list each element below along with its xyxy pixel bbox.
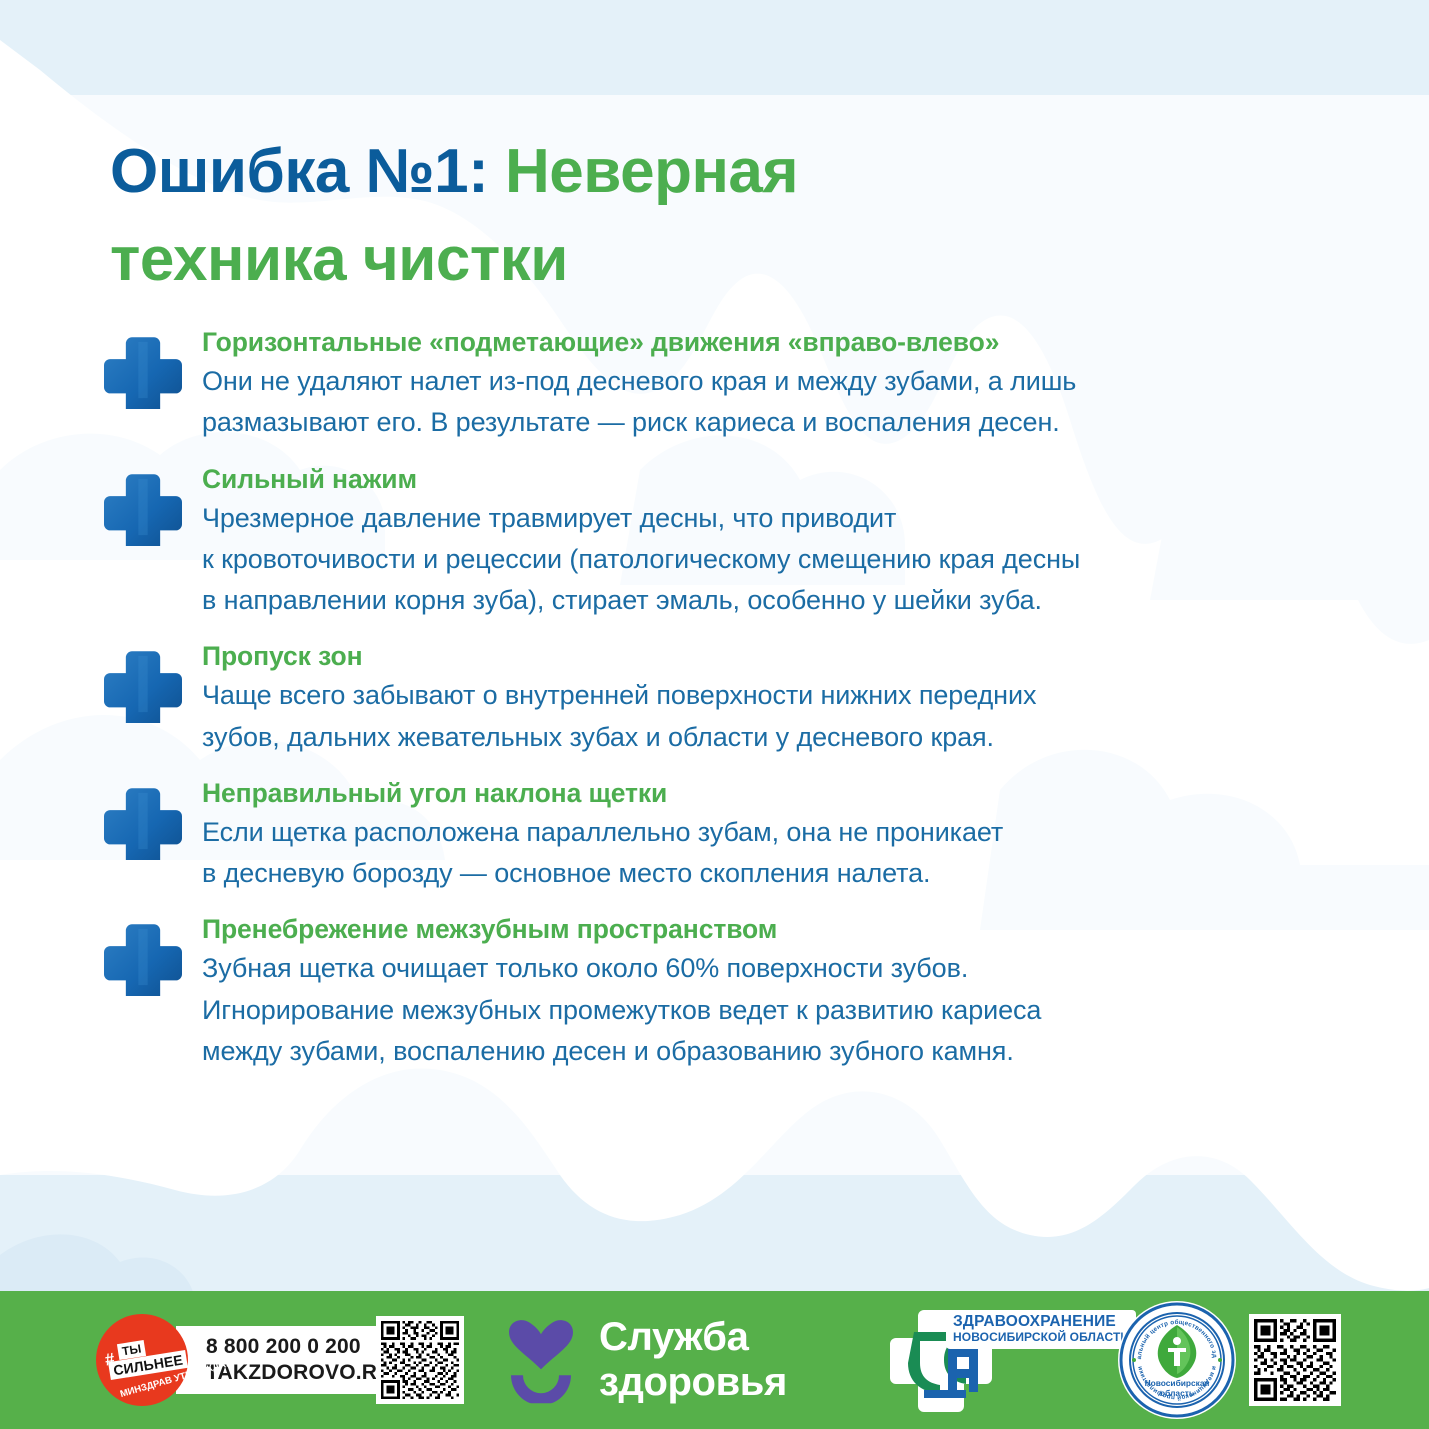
list-item-line: к кровоточивости и рецессии (патологичес… <box>202 539 1364 580</box>
heart-smile-icon <box>505 1317 577 1403</box>
list-item-line: в десневую борозду — основное место скоп… <box>202 853 1364 894</box>
list-item-body: Чрезмерное давление травмирует десны, чт… <box>202 498 1364 621</box>
list-item-line: Игнорирование межзубных промежутков веде… <box>202 990 1364 1031</box>
list-item-body: Если щетка расположена параллельно зубам… <box>202 812 1364 894</box>
ty-silnee-badge-icon: # ТЫ СИЛЬНЕЕ МИНЗДРАВ УТВЕРЖДАЕТ! <box>96 1314 188 1406</box>
list-item-line: Чаще всего забывают о внутренней поверхн… <box>202 675 1364 716</box>
list-item: Пренебрежение межзубным пространством Зу… <box>104 912 1364 1072</box>
round-seal-icon[interactable]: Региональный центр общественного здоровь… <box>1118 1301 1236 1419</box>
qr-code-icon[interactable] <box>376 1316 464 1404</box>
zdravoohranenie-line-2: НОВОСИБИРСКОЙ ОБЛАСТИ <box>953 1331 1129 1344</box>
mistake-list: Горизонтальные «подметающие» движения «в… <box>104 325 1364 1072</box>
takzdorovo-block[interactable]: # ТЫ СИЛЬНЕЕ МИНЗДРАВ УТВЕРЖДАЕТ! 8 800 … <box>96 1323 413 1397</box>
svg-text:Новосибирская: Новосибирская <box>1145 1378 1210 1388</box>
title-line-1: Ошибка №1: Неверная <box>110 128 1260 216</box>
plus-cross-icon <box>104 468 182 546</box>
list-item-line: в направлении корня зуба), стирает эмаль… <box>202 580 1364 621</box>
plus-cross-icon <box>104 645 182 723</box>
list-item: Неправильный угол наклона щетки Если щет… <box>104 776 1364 895</box>
zdravoohranenie-nso-logo[interactable]: ЗДРАВООХРАНЕНИЕ НОВОСИБИРСКОЙ ОБЛАСТИ <box>890 1304 1085 1416</box>
plus-cross-icon <box>104 918 182 996</box>
title-line-2: техника чистки <box>110 216 1260 304</box>
list-item-title: Неправильный угол наклона щетки <box>202 776 1364 810</box>
list-item-title: Горизонтальные «подметающие» движения «в… <box>202 325 1364 359</box>
sluzhba-zdorovya-text: Служба здоровья <box>599 1315 787 1405</box>
list-item-line: Они не удаляют налет из-под десневого кр… <box>202 361 1364 402</box>
list-item-body: Чаще всего забывают о внутренней поверхн… <box>202 675 1364 757</box>
list-item-body: Они не удаляют налет из-под десневого кр… <box>202 361 1364 443</box>
list-item-line: Чрезмерное давление травмирует десны, чт… <box>202 498 1364 539</box>
list-item-title: Сильный нажим <box>202 462 1364 496</box>
list-item: Горизонтальные «подметающие» движения «в… <box>104 325 1364 444</box>
list-item-line: зубов, дальних жевательных зубах и облас… <box>202 717 1364 758</box>
list-item: Сильный нажим Чрезмерное давление травми… <box>104 462 1364 622</box>
qr-code-icon[interactable] <box>1249 1314 1341 1406</box>
list-item-line: размазывают его. В результате — риск кар… <box>202 402 1364 443</box>
list-item-line: Зубная щетка очищает только около 60% по… <box>202 948 1364 989</box>
page-title: Ошибка №1: Неверная техника чистки <box>110 128 1260 304</box>
svg-text:область: область <box>1160 1388 1194 1398</box>
list-item: Пропуск зон Чаще всего забывают о внутре… <box>104 639 1364 758</box>
list-item-title: Пренебрежение межзубным пространством <box>202 912 1364 946</box>
zdravoohranenie-line-1: ЗДРАВООХРАНЕНИЕ <box>953 1314 1129 1331</box>
sluzhba-line-1: Служба <box>599 1315 787 1360</box>
sluzhba-zdorovya-logo[interactable]: Служба здоровья <box>505 1315 787 1405</box>
plus-cross-icon <box>104 331 182 409</box>
list-item-title: Пропуск зон <box>202 639 1364 673</box>
zdravoohranenie-label: ЗДРАВООХРАНЕНИЕ НОВОСИБИРСКОЙ ОБЛАСТИ <box>946 1310 1136 1349</box>
title-part-green: Неверная <box>505 137 798 206</box>
footer-bar: # ТЫ СИЛЬНЕЕ МИНЗДРАВ УТВЕРЖДАЕТ! 8 800 … <box>0 1291 1429 1429</box>
list-item-line: Если щетка расположена параллельно зубам… <box>202 812 1364 853</box>
list-item-line: между зубами, воспалению десен и образов… <box>202 1031 1364 1072</box>
plus-cross-icon <box>104 782 182 860</box>
poster-root: Ошибка №1: Неверная техника чистки Гориз… <box>0 0 1429 1429</box>
title-part-blue: Ошибка №1: <box>110 137 488 206</box>
sluzhba-line-2: здоровья <box>599 1360 787 1405</box>
list-item-body: Зубная щетка очищает только около 60% по… <box>202 948 1364 1071</box>
